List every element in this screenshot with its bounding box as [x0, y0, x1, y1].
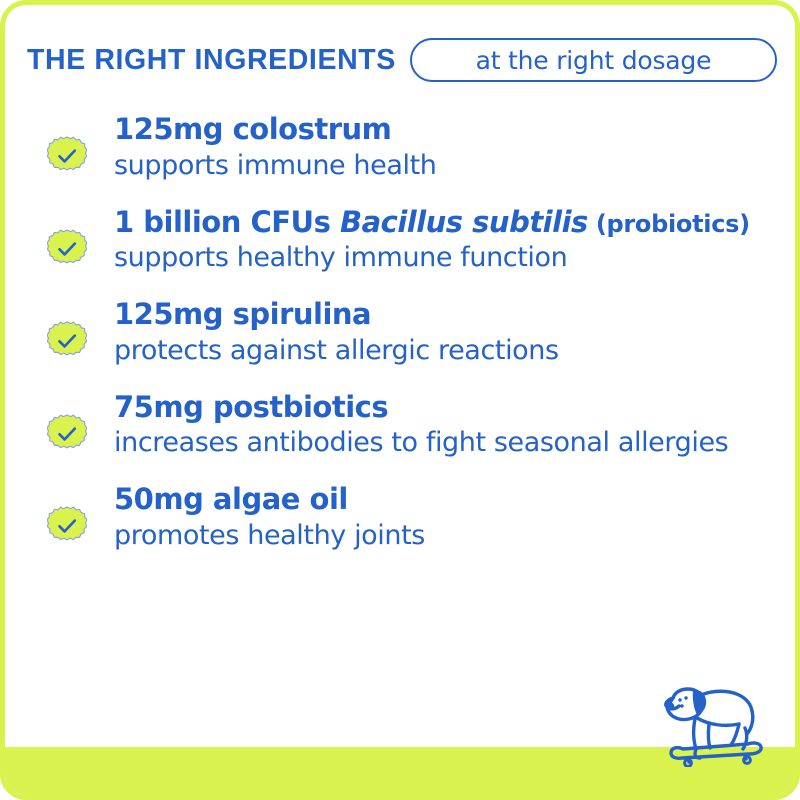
ingredient-title: 75mg postbiotics — [114, 389, 795, 426]
ingredient-scientific-name: Bacillus subtilis — [340, 205, 588, 239]
header: THE RIGHT INGREDIENTS at the right dosag… — [27, 38, 777, 82]
ingredient-benefit: supports healthy immune function — [114, 241, 734, 275]
ingredient-title: 125mg colostrum — [114, 111, 795, 148]
dog-on-skateboard-icon — [653, 671, 775, 767]
ingredient-benefit: supports immune health — [114, 149, 734, 183]
ingredient-benefit: protects against allergic reactions — [114, 334, 734, 368]
ingredient-title: 1 billion CFUs Bacillus subtilis (probio… — [114, 204, 795, 241]
ingredient-benefit: increases antibodies to fight seasonal a… — [114, 426, 734, 460]
check-badge-icon — [47, 229, 87, 269]
page-title: THE RIGHT INGREDIENTS — [27, 46, 396, 75]
list-item: 125mg colostrum supports immune health — [5, 109, 795, 183]
ingredient-benefit: promotes healthy joints — [114, 519, 734, 553]
ingredients-list: 125mg colostrum supports immune health 1… — [5, 109, 795, 572]
list-item-text: 75mg postbiotics increases antibodies to… — [114, 387, 795, 461]
ingredients-card: THE RIGHT INGREDIENTS at the right dosag… — [0, 0, 800, 800]
list-item-text: 125mg spirulina protects against allergi… — [114, 294, 795, 368]
ingredient-title-prefix: 1 billion CFUs — [114, 205, 340, 239]
list-item: 50mg algae oil promotes healthy joints — [5, 479, 795, 553]
list-item-text: 1 billion CFUs Bacillus subtilis (probio… — [114, 202, 795, 276]
check-badge-icon — [47, 414, 87, 454]
ingredient-title: 125mg spirulina — [114, 296, 795, 333]
dosage-pill-label: at the right dosage — [476, 48, 712, 73]
list-item: 75mg postbiotics increases antibodies to… — [5, 387, 795, 461]
list-item: 125mg spirulina protects against allergi… — [5, 294, 795, 368]
list-item-text: 125mg colostrum supports immune health — [114, 109, 795, 183]
list-item-text: 50mg algae oil promotes healthy joints — [114, 479, 795, 553]
list-item: 1 billion CFUs Bacillus subtilis (probio… — [5, 202, 795, 276]
check-badge-icon — [47, 136, 87, 176]
ingredient-title-suffix: (probiotics) — [588, 210, 750, 238]
dosage-pill: at the right dosage — [410, 38, 777, 82]
check-badge-icon — [47, 321, 87, 361]
check-badge-icon — [47, 506, 87, 546]
ingredient-title: 50mg algae oil — [114, 481, 795, 518]
